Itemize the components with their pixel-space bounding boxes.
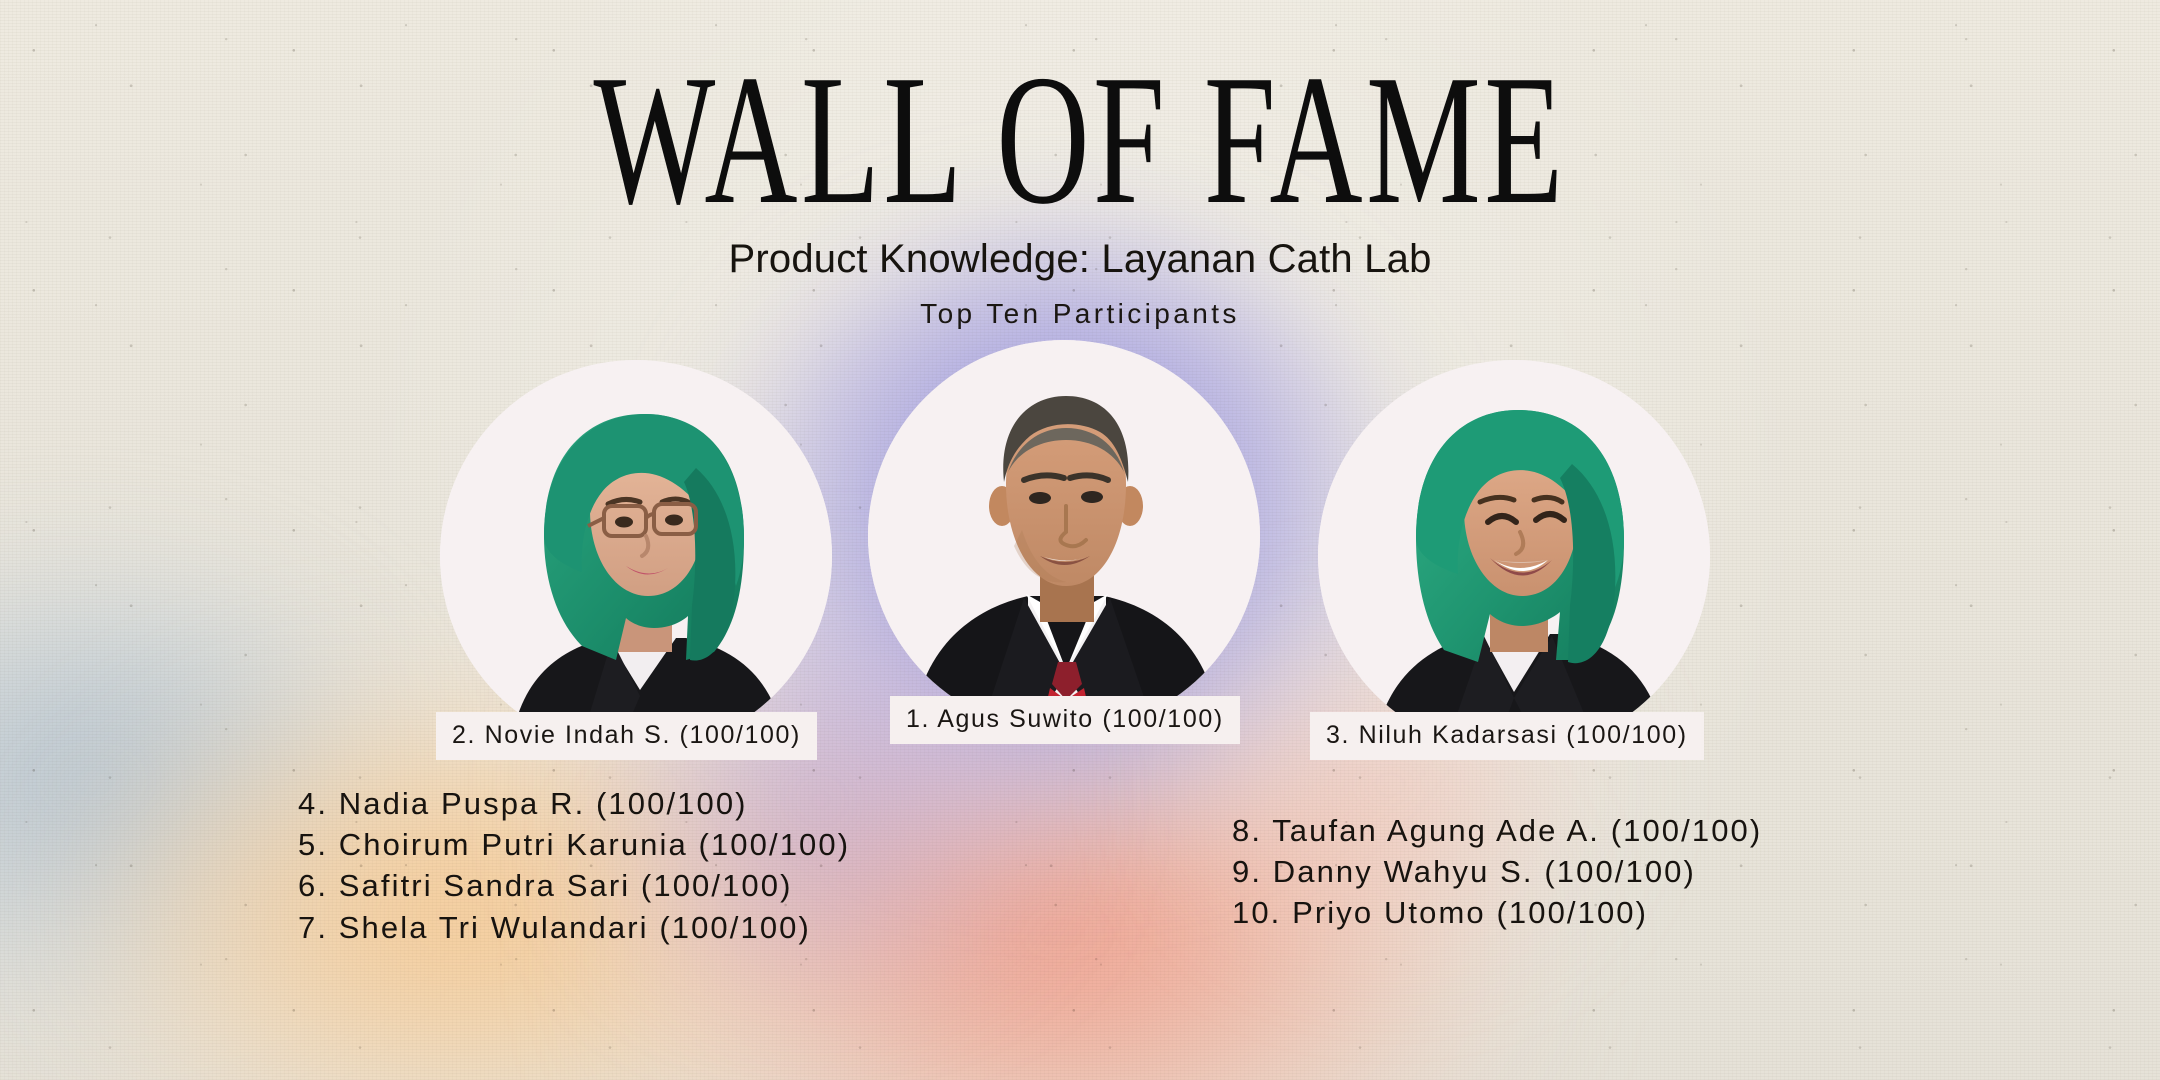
list-item: 5. Choirum Putri Karunia (100/100) xyxy=(298,824,850,865)
podium-slot-rank-2 xyxy=(440,360,832,752)
list-item: 4. Nadia Puspa R. (100/100) xyxy=(298,783,850,824)
podium-label-rank-1: 1. Agus Suwito (100/100) xyxy=(890,696,1240,744)
list-item: 6. Safitri Sandra Sari (100/100) xyxy=(298,865,850,906)
page-subtitle: Product Knowledge: Layanan Cath Lab xyxy=(0,237,2160,282)
heading-block: WALL OF FAME Product Knowledge: Layanan … xyxy=(0,52,2160,330)
podium-label-rank-3: 3. Niluh Kadarsasi (100/100) xyxy=(1310,712,1704,760)
podium-slot-rank-3 xyxy=(1318,360,1710,752)
podium-label-rank-2: 2. Novie Indah S. (100/100) xyxy=(436,712,817,760)
portrait-rank-2 xyxy=(440,360,832,752)
section-label: Top Ten Participants xyxy=(0,298,2160,330)
wall-of-fame-poster: WALL OF FAME Product Knowledge: Layanan … xyxy=(0,0,2160,1080)
participants-list-right: 8. Taufan Agung Ade A. (100/100) 9. Dann… xyxy=(1232,810,1762,934)
page-title: WALL OF FAME xyxy=(151,52,2009,229)
list-item: 9. Danny Wahyu S. (100/100) xyxy=(1232,851,1762,892)
list-item: 7. Shela Tri Wulandari (100/100) xyxy=(298,907,850,948)
participants-list-left: 4. Nadia Puspa R. (100/100) 5. Choirum P… xyxy=(298,783,850,948)
portrait-rank-1 xyxy=(868,340,1260,732)
list-item: 8. Taufan Agung Ade A. (100/100) xyxy=(1232,810,1762,851)
podium-slot-rank-1 xyxy=(868,340,1260,732)
list-item: 10. Priyo Utomo (100/100) xyxy=(1232,892,1762,933)
portrait-rank-3 xyxy=(1318,360,1710,752)
